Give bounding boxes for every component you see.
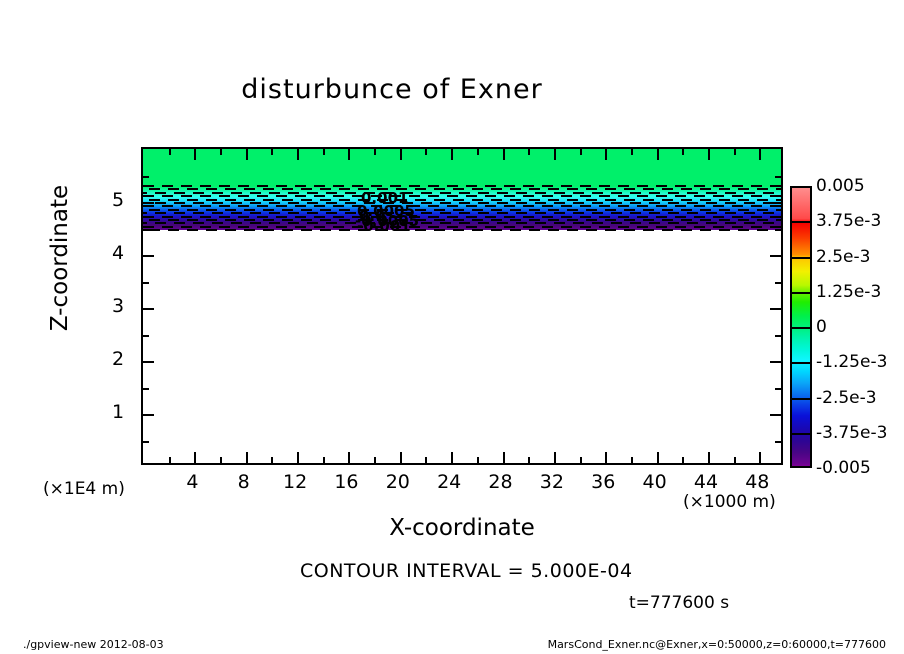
contour-interval-note: CONTOUR INTERVAL = 5.000E-04 [300,560,633,582]
axis-tick [770,414,781,416]
axis-tick [554,452,556,463]
axis-tick [143,335,149,337]
axis-tick [143,229,149,231]
axis-tick [194,149,196,160]
axis-tick [775,229,781,231]
x-tick-label: 16 [334,471,358,493]
axis-tick [775,388,781,390]
x-tick-label: 12 [283,471,307,493]
contour-line [143,205,781,207]
colorbar-divider [790,398,812,400]
footer-command-label: ./gpview-new 2012-08-03 [23,638,164,651]
axis-tick [451,452,453,463]
colorbar-tick-label: -2.5e-3 [816,388,877,408]
colorbar-tick-label: 3.75e-3 [816,211,881,231]
colorbar-tick-label: 0 [816,317,827,337]
contour-line [143,212,781,214]
colorbar-divider [790,362,812,364]
axis-tick [425,149,427,155]
axis-tick [759,452,761,463]
contour-line [143,219,781,221]
axis-tick [246,149,248,160]
axis-tick [374,149,376,155]
axis-tick [770,255,781,257]
axis-tick [169,457,171,463]
x-axis-unit-label: (×1000 m) [683,492,776,512]
axis-tick [194,452,196,463]
axis-tick [477,457,479,463]
colorbar-divider [790,292,812,294]
axis-tick [631,457,633,463]
axis-tick [323,457,325,463]
axis-tick [143,255,154,257]
axis-tick [143,308,154,310]
x-tick-label: 4 [186,471,198,493]
axis-tick [143,176,149,178]
axis-tick [580,149,582,155]
plot-area: 0.0010.00050.0-0.0005-0.001 [141,147,783,465]
colorbar-divider [790,221,812,223]
colorbar-tick-label: 0.005 [816,176,865,196]
colorbar-tick-label: -3.75e-3 [816,423,887,443]
axis-tick [580,457,582,463]
axis-tick [682,457,684,463]
colorbar-tick-label: -0.005 [816,458,871,478]
axis-tick [503,149,505,160]
axis-tick [708,149,710,160]
axis-tick [143,414,154,416]
y-tick-label: 3 [112,295,124,317]
contour-line [143,199,781,201]
axis-tick [143,282,149,284]
colorbar-divider [790,433,812,435]
contour-value-label: -0.001 [357,217,411,235]
contour-line [143,185,781,187]
axis-tick [631,149,633,155]
axis-tick [425,457,427,463]
x-tick-label: 20 [386,471,410,493]
x-tick-label: 8 [238,471,250,493]
contour-line-group [143,149,781,230]
axis-tick [400,149,402,160]
x-tick-label: 24 [437,471,461,493]
colorbar-tick-label: 1.25e-3 [816,282,881,302]
axis-tick [297,149,299,160]
contour-line [143,209,781,211]
y-axis-unit-label: (×1E4 m) [43,479,125,499]
contour-line [143,202,781,204]
axis-tick [143,441,149,443]
x-tick-label: 44 [694,471,718,493]
axis-tick [451,149,453,160]
y-tick-label: 5 [112,189,124,211]
contour-line [143,222,781,224]
gpview-plot-window: disturbunce of Exner 0.0010.00050.0-0.00… [0,0,904,654]
axis-tick [528,149,530,155]
axis-tick [503,452,505,463]
axis-tick [770,308,781,310]
axis-tick [775,335,781,337]
axis-tick [246,452,248,463]
colorbar-tick-label: -1.25e-3 [816,352,887,372]
axis-tick [775,176,781,178]
y-tick-label: 2 [112,348,124,370]
contour-line [143,195,781,197]
axis-tick [220,149,222,155]
axis-tick [554,149,556,160]
axis-tick [143,388,149,390]
contour-line [143,229,781,231]
axis-tick [400,452,402,463]
axis-tick [348,452,350,463]
axis-tick [323,149,325,155]
contour-line [143,216,781,218]
axis-tick [297,452,299,463]
x-tick-label: 36 [591,471,615,493]
axis-tick [770,202,781,204]
y-tick-label: 1 [112,401,124,423]
axis-tick [374,457,376,463]
colorbar-tick-label: 2.5e-3 [816,247,870,267]
x-tick-label: 48 [745,471,769,493]
axis-tick [605,149,607,160]
colorbar-divider [790,257,812,259]
axis-tick [348,149,350,160]
axis-tick [770,361,781,363]
axis-tick [271,149,273,155]
axis-tick [169,149,171,155]
x-tick-label: 40 [643,471,667,493]
axis-tick [657,452,659,463]
x-axis-title: X-coordinate [141,515,783,541]
page-title: disturbunce of Exner [0,74,784,105]
axis-tick [708,452,710,463]
axis-tick [759,149,761,160]
y-tick-label: 4 [112,242,124,264]
x-tick-label: 32 [540,471,564,493]
axis-tick [143,361,154,363]
footer-dataset-label: MarsCond_Exner.nc@Exner,x=0:50000,z=0:60… [548,638,886,651]
axis-tick [271,457,273,463]
axis-tick [657,149,659,160]
contour-line [143,192,781,194]
axis-tick [775,441,781,443]
axis-tick [220,457,222,463]
colorbar-divider [790,327,812,329]
colorbar [790,186,812,468]
axis-tick [734,457,736,463]
timestamp-note: t=777600 s [629,593,729,613]
axis-tick [775,282,781,284]
axis-tick [734,149,736,155]
contour-line [143,226,781,228]
axis-tick [605,452,607,463]
axis-tick [477,149,479,155]
x-tick-label: 28 [488,471,512,493]
axis-tick [682,149,684,155]
axis-tick [528,457,530,463]
axis-tick [143,202,154,204]
contour-line [143,188,781,190]
y-axis-title: Z-coordinate [47,158,73,358]
